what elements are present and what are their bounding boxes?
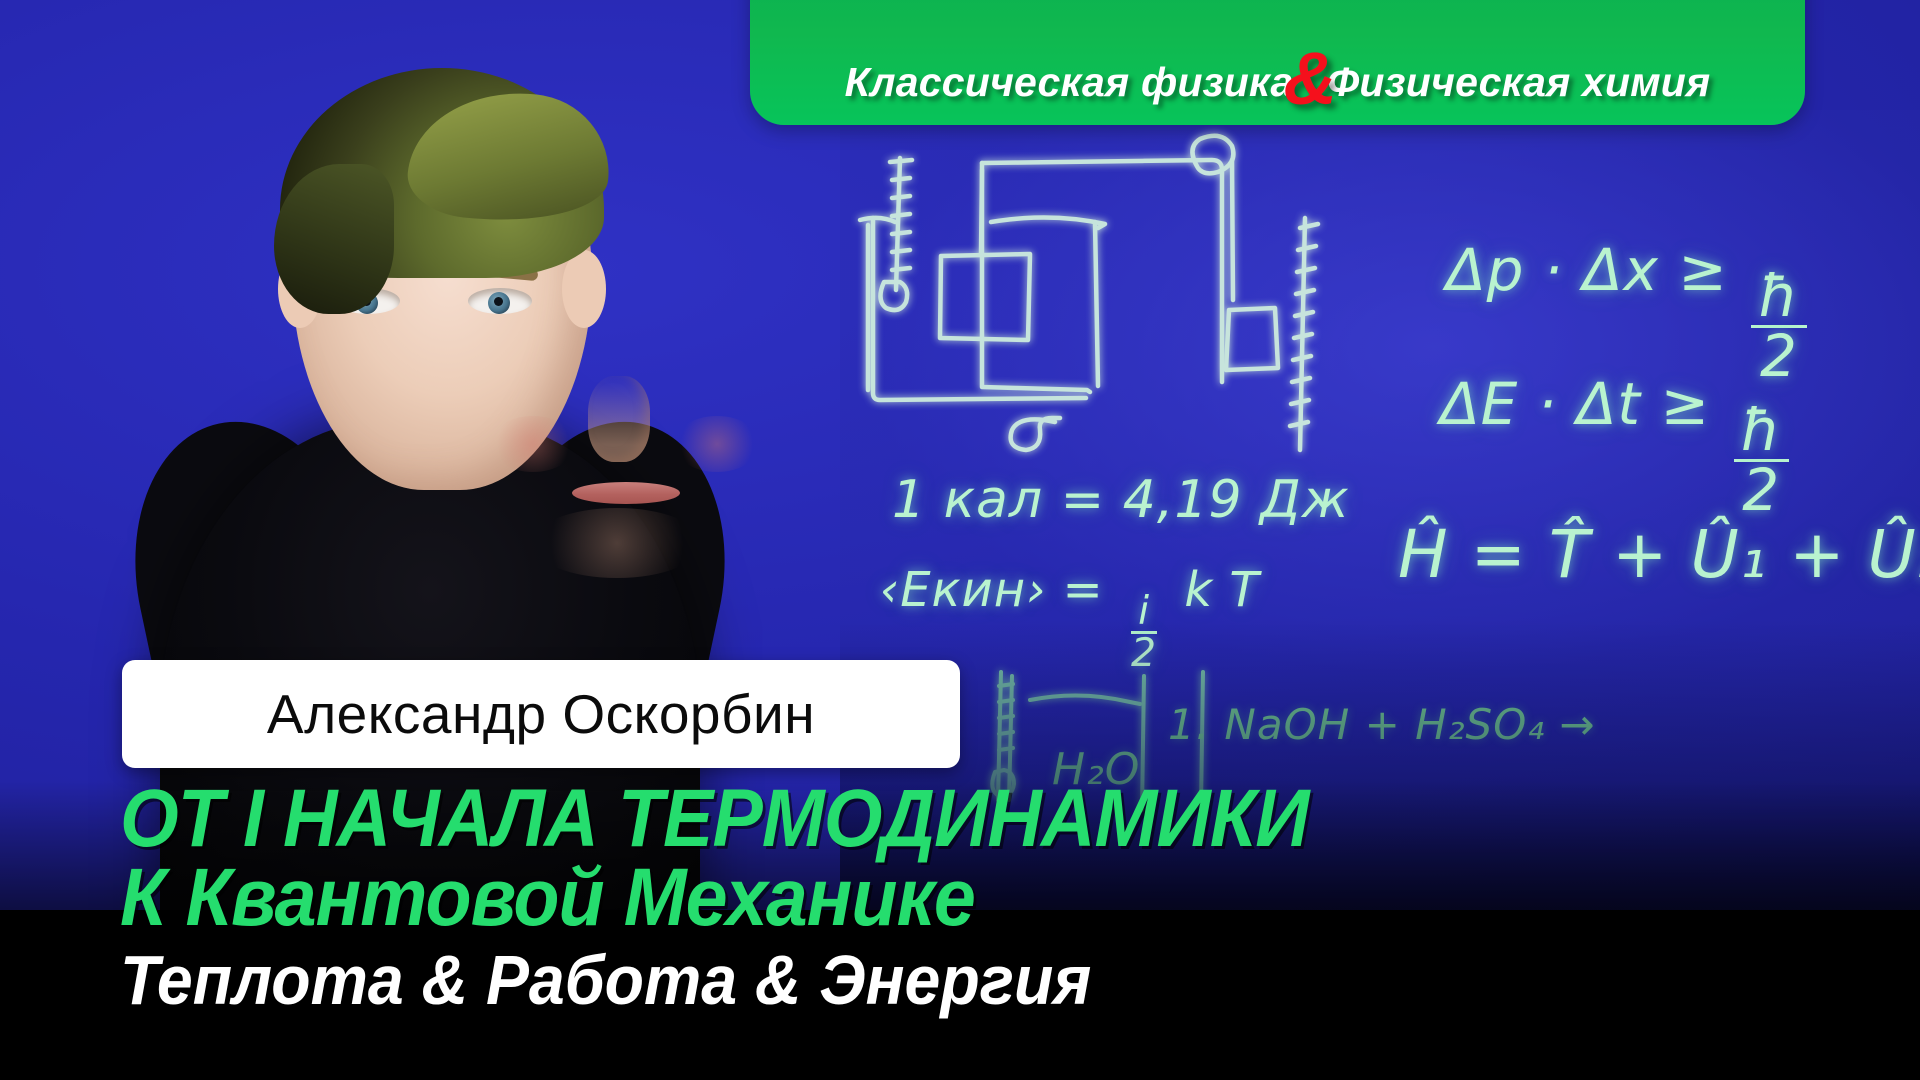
title-line-3: Теплота & Работа & Энергия — [120, 941, 1739, 1019]
formula-uncertainty-energy: ΔE · Δt ≥ ħ 2 — [1440, 370, 1793, 518]
formula-uncertainty-momentum: Δp · Δx ≥ ħ 2 — [1446, 236, 1811, 384]
mouth — [572, 482, 680, 504]
eye-right — [468, 288, 532, 314]
title-block: ОТ I НАЧАЛА ТЕРМОДИНАМИКИ К Квантовой Ме… — [120, 780, 1880, 1020]
formula-calorie-joule: 1 кал = 4,19 Дж — [892, 470, 1350, 530]
title-line-1: ОТ I НАЧАЛА ТЕРМОДИНАМИКИ — [120, 780, 1739, 859]
topic-banner: Классическая физика & Физическая химия — [750, 0, 1805, 125]
topic-banner-text: Классическая физика & Физическая химия — [845, 28, 1711, 113]
formula-hamiltonian: Ĥ = T̂ + Û₁ + Û₂ — [1398, 516, 1920, 593]
ear-right — [562, 250, 606, 328]
speaker-name: Александр Оскорбин — [267, 682, 815, 746]
nose — [588, 376, 650, 462]
ampersand-symbol: & — [1284, 36, 1338, 121]
chin — [532, 508, 702, 578]
cheek-left — [490, 416, 576, 472]
topic-right-label: Физическая химия — [1327, 59, 1710, 106]
thumbnail-canvas: Δp · Δx ≥ ħ 2 ΔE · Δt ≥ ħ 2 1 кал = 4,19… — [0, 0, 1920, 1080]
topic-left-label: Классическая физика — [845, 59, 1294, 106]
title-line-2: К Квантовой Механике — [120, 859, 1739, 938]
cheek-right — [674, 416, 760, 472]
speaker-name-plate: Александр Оскорбин — [122, 660, 960, 768]
